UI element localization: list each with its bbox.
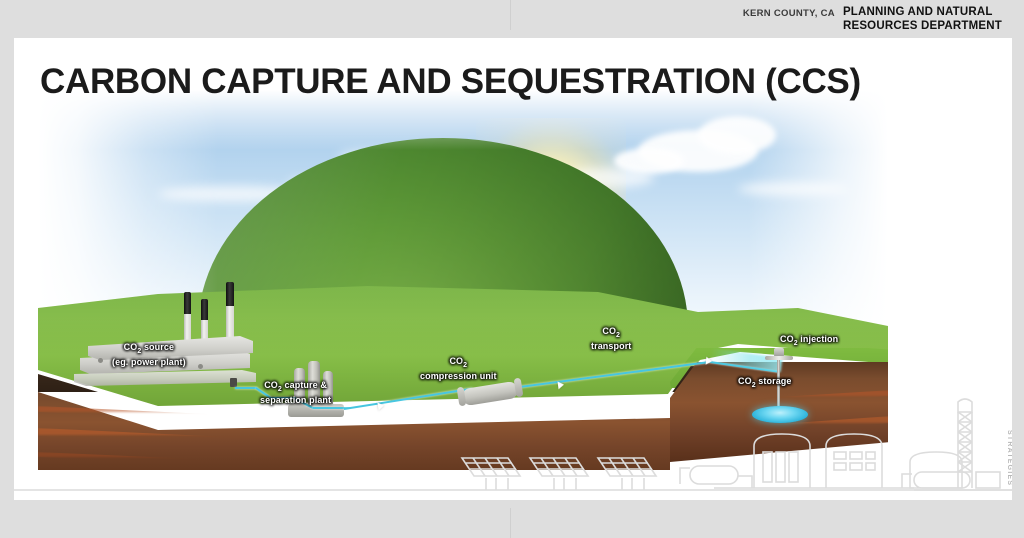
- label-text: (eg. power plant): [112, 357, 186, 367]
- department-line-1: PLANNING AND NATURAL: [843, 6, 1002, 20]
- organization-branding: KERN COUNTY, CA PLANNING AND NATURAL RES…: [743, 6, 1002, 33]
- label-text: capture &: [282, 380, 327, 390]
- label-co2-source: CO2 source (eg. power plant): [112, 342, 186, 368]
- department-name: PLANNING AND NATURAL RESOURCES DEPARTMEN…: [843, 6, 1002, 33]
- smokestack-top: [184, 292, 191, 314]
- strategies-watermark: STRATEGIES: [1006, 430, 1012, 486]
- label-text: compression unit: [420, 371, 497, 381]
- label-text: source: [141, 342, 174, 352]
- refinery-icon: [902, 399, 1012, 490]
- label-co2-injection: CO2 injection: [780, 334, 838, 349]
- co2-storage-reservoir: [752, 406, 808, 423]
- department-line-2: RESOURCES DEPARTMENT: [843, 20, 1002, 34]
- plant-outlet: [230, 378, 237, 387]
- subscript-2: 2: [616, 332, 620, 339]
- label-text: storage: [756, 376, 792, 386]
- smokestack-top: [201, 299, 208, 320]
- label-co2-transport: CO2 transport: [591, 326, 631, 352]
- top-center-guide-line: [510, 0, 511, 30]
- label-co2-storage: CO2 storage: [738, 376, 792, 391]
- label-co2-compression-unit: CO2 compression unit: [420, 356, 497, 382]
- label-text: CO: [602, 326, 616, 336]
- label-text: CO: [738, 376, 752, 386]
- subscript-2: 2: [463, 362, 467, 369]
- label-text: CO: [124, 342, 138, 352]
- label-text: CO: [449, 356, 463, 366]
- label-text: injection: [798, 334, 839, 344]
- presentation-slide: CARBON CAPTURE AND SEQUESTRATION (CCS) S…: [14, 38, 1012, 500]
- smokestack-top: [226, 282, 234, 306]
- pipeline-flow-arrow-icon: [377, 402, 384, 411]
- plant-window: [198, 364, 203, 369]
- ccs-diagram-illustration: CO2 source (eg. power plant) CO2 capture…: [38, 90, 888, 470]
- label-text: transport: [591, 341, 631, 351]
- pipeline-flow-arrow-icon: [558, 381, 565, 390]
- label-text: separation plant: [260, 395, 331, 405]
- label-co2-capture-separation: CO2 capture & separation plant: [260, 380, 331, 406]
- page-header: KERN COUNTY, CA PLANNING AND NATURAL RES…: [0, 0, 1024, 38]
- county-label: KERN COUNTY, CA: [743, 6, 835, 19]
- page-title: CARBON CAPTURE AND SEQUESTRATION (CCS): [40, 62, 861, 102]
- label-text: CO: [780, 334, 794, 344]
- capture-plant-base: [288, 404, 344, 417]
- bottom-center-guide-line: [510, 508, 511, 538]
- label-text: CO: [264, 380, 278, 390]
- plant-window: [98, 358, 103, 363]
- pipeline-segment: [235, 387, 257, 389]
- slide-bottom-bar: [14, 492, 1012, 500]
- sky-right-fade: [748, 90, 888, 340]
